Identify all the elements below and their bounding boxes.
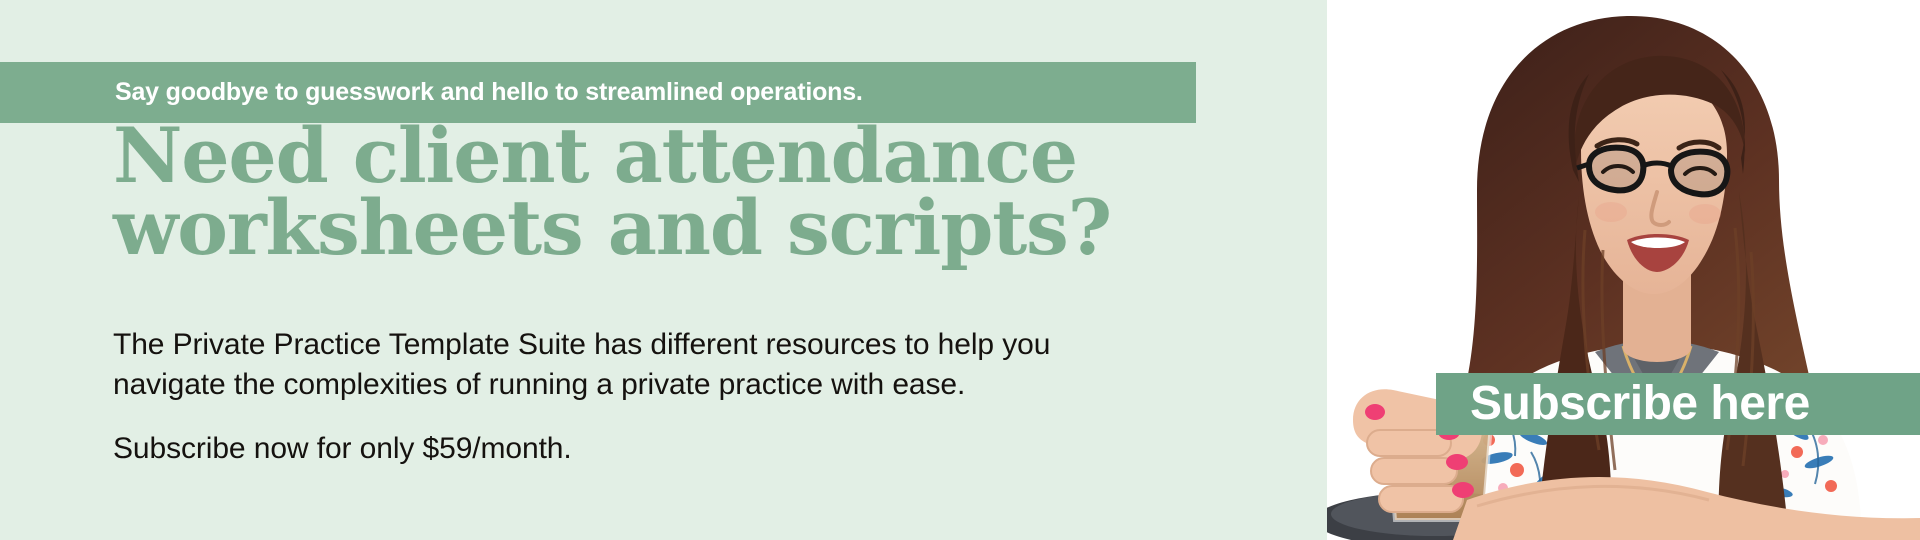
- promo-banner: Say goodbye to guesswork and hello to st…: [0, 0, 1920, 540]
- subscribe-here-button[interactable]: Subscribe here: [1436, 373, 1920, 435]
- headline: Need client attendance worksheets and sc…: [113, 120, 1113, 264]
- hero-photo: [1327, 0, 1920, 540]
- eyebrow-text: Say goodbye to guesswork and hello to st…: [115, 78, 863, 107]
- subscribe-here-label: Subscribe here: [1470, 380, 1810, 428]
- headline-line-2: worksheets and scripts?: [113, 192, 1113, 264]
- price-line: Subscribe now for only $59/month.: [113, 429, 1073, 469]
- body-copy: The Private Practice Template Suite has …: [113, 325, 1073, 469]
- body-paragraph: The Private Practice Template Suite has …: [113, 325, 1073, 405]
